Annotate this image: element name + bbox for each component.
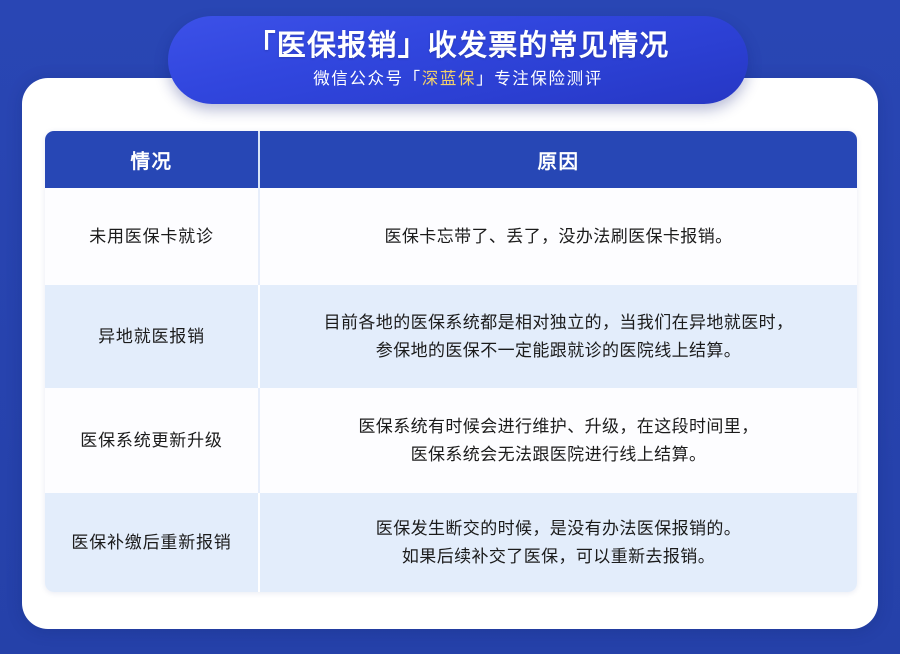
reason-line: 医保发生断交的时候，是没有办法医保报销的。 [376,515,741,543]
cell-reason: 医保发生断交的时候，是没有办法医保报销的。 如果后续补交了医保，可以重新去报销。 [260,493,857,592]
cell-reason: 医保卡忘带了、丢了，没办法刷医保卡报销。 [260,188,857,285]
reason-line: 如果后续补交了医保，可以重新去报销。 [376,543,741,571]
cell-situation: 医保系统更新升级 [45,388,260,493]
cell-reason: 医保系统有时候会进行维护、升级，在这段时间里， 医保系统会无法跟医院进行线上结算… [260,388,857,493]
column-header-reason: 原因 [260,131,857,188]
reason-line: 医保系统有时候会进行维护、升级，在这段时间里， [358,413,758,441]
subtitle-suffix: 」专注保险测评 [476,70,603,88]
table-header-row: 情况 原因 [45,131,857,188]
reason-text: 目前各地的医保系统都是相对独立的，当我们在异地就医时， 参保地的医保不一定能跟就… [324,309,794,364]
cell-situation: 未用医保卡就诊 [45,188,260,285]
table-row: 异地就医报销 目前各地的医保系统都是相对独立的，当我们在异地就医时， 参保地的医… [45,285,857,388]
subtitle-prefix: 微信公众号「 [313,70,422,88]
page-title: 「医保报销」收发票的常见情况 [247,30,670,63]
reason-line: 医保系统会无法跟医院进行线上结算。 [358,441,758,469]
reason-text: 医保卡忘带了、丢了，没办法刷医保卡报销。 [385,223,733,251]
cell-reason: 目前各地的医保系统都是相对独立的，当我们在异地就医时， 参保地的医保不一定能跟就… [260,285,857,388]
column-header-situation: 情况 [45,131,260,188]
reason-line: 医保卡忘带了、丢了，没办法刷医保卡报销。 [385,223,733,251]
reason-text: 医保系统有时候会进行维护、升级，在这段时间里， 医保系统会无法跟医院进行线上结算… [358,413,758,468]
table-row: 医保系统更新升级 医保系统有时候会进行维护、升级，在这段时间里， 医保系统会无法… [45,388,857,493]
cell-situation: 医保补缴后重新报销 [45,493,260,592]
brand-name: 深蓝保 [422,70,476,88]
situations-table: 情况 原因 未用医保卡就诊 医保卡忘带了、丢了，没办法刷医保卡报销。 异地就医报… [45,131,857,592]
poster-root: 深蓝保 shenlanbao 中立｜专业｜诚信 「医保报销」收发票的常见情况 微… [0,0,900,654]
reason-line: 参保地的医保不一定能跟就诊的医院线上结算。 [324,337,794,365]
reason-text: 医保发生断交的时候，是没有办法医保报销的。 如果后续补交了医保，可以重新去报销。 [376,515,741,570]
cell-situation: 异地就医报销 [45,285,260,388]
table-row: 未用医保卡就诊 医保卡忘带了、丢了，没办法刷医保卡报销。 [45,188,857,285]
page-subtitle: 微信公众号「深蓝保」专注保险测评 [313,70,603,90]
reason-line: 目前各地的医保系统都是相对独立的，当我们在异地就医时， [324,309,794,337]
title-banner: 「医保报销」收发票的常见情况 微信公众号「深蓝保」专注保险测评 [168,16,748,104]
table-row: 医保补缴后重新报销 医保发生断交的时候，是没有办法医保报销的。 如果后续补交了医… [45,493,857,592]
